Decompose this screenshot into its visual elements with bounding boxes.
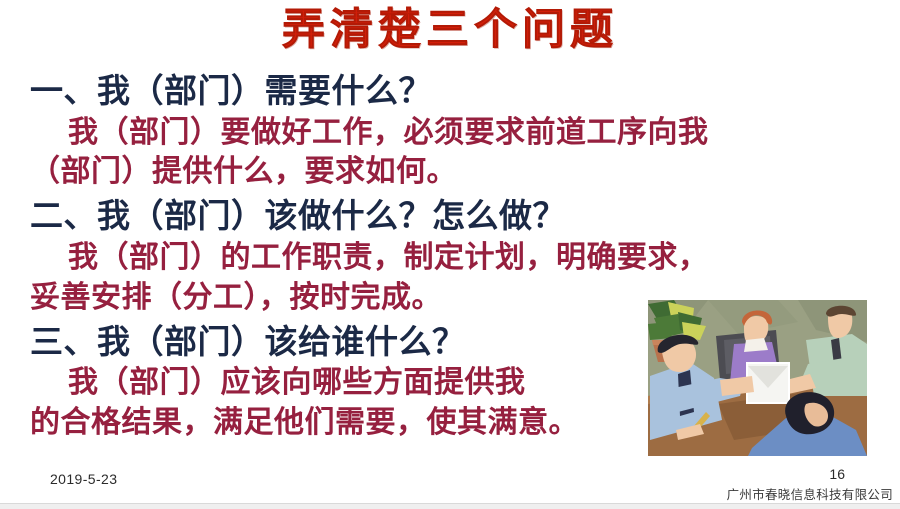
page-number: 16 bbox=[0, 466, 845, 482]
answer-line-3-1: 我（部门）应该向哪些方面提供我 bbox=[68, 365, 526, 400]
question-block-1: 一、我（部门）需要什么？ 我（部门）要做好工作，必须要求前道工序向我 （部门）提… bbox=[30, 70, 875, 192]
answer-line-2-1: 我（部门）的工作职责，制定计划，明确要求， bbox=[68, 240, 709, 275]
answer-line-1-1: 我（部门）要做好工作，必须要求前道工序向我 bbox=[68, 115, 709, 150]
question-answer-3: 我（部门）应该向哪些方面提供我 的合格结果，满足他们需要，使其满意。 bbox=[30, 363, 670, 443]
presentation-slide: 弄清楚三个问题 一、我（部门）需要什么？ 我（部门）要做好工作，必须要求前道工序… bbox=[0, 0, 900, 509]
business-meeting-image bbox=[648, 300, 867, 456]
question-heading-2: 二、我（部门）该做什么？怎么做？ bbox=[30, 195, 875, 237]
answer-line-1-2: （部门）提供什么，要求如何。 bbox=[30, 154, 457, 189]
answer-line-3-2: 的合格结果，满足他们需要，使其满意。 bbox=[30, 405, 579, 440]
question-heading-1: 一、我（部门）需要什么？ bbox=[30, 70, 875, 112]
bottom-band bbox=[0, 503, 900, 509]
question-answer-1: 我（部门）要做好工作，必须要求前道工序向我 （部门）提供什么，要求如何。 bbox=[30, 113, 875, 193]
answer-line-2-2: 妥善安排（分工），按时完成。 bbox=[30, 280, 442, 315]
company-name: 广州市春晓信息科技有限公司 bbox=[0, 484, 893, 503]
business-meeting-clipart-icon bbox=[648, 300, 867, 456]
page-title: 弄清楚三个问题 bbox=[0, 6, 900, 54]
